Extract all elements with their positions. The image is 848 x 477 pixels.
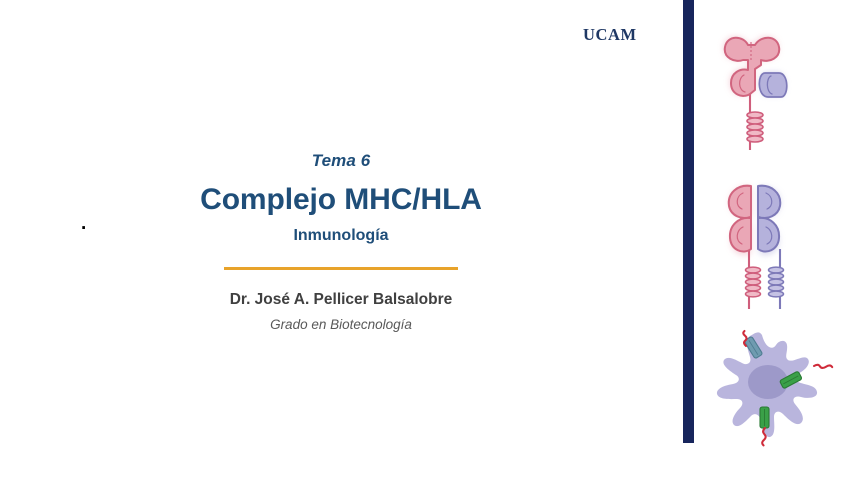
mhc-class-ii-svg [702,175,848,315]
peptide-antigen-green-right [814,365,832,368]
degree-program: Grado en Biotecnología [118,318,564,333]
title-block: Tema 6 Complejo MHC/HLA Inmunología Dr. … [118,152,564,333]
slide-canvas: UCAM . Tema 6 Complejo MHC/HLA Inmunolog… [0,0,848,477]
mhc-class-i-svg [702,28,848,158]
topic-number: Tema 6 [118,152,564,171]
mhc-receptor-green-bottom [760,407,769,428]
b2-microglobulin-domain [759,73,786,97]
mhc1-transmembrane-coil [747,112,763,142]
mhc2-beta-chain [758,186,780,252]
subject-label: Inmunología [118,227,564,245]
dendritic-cell-svg [702,325,848,450]
author-name: Dr. José A. Pellicer Balsalobre [118,291,564,308]
stray-bullet-marker: . [81,214,86,233]
antigen-presenting-cell-icon [702,325,848,450]
mhc2-alpha-chain [729,186,751,252]
mhc-class-ii-icon [702,175,848,315]
mhc-class-i-icon [702,28,848,158]
sidebar-figure-column [702,0,848,477]
mhc2-beta-coil [769,267,784,297]
mhc2-alpha-coil [746,267,761,297]
page-title: Complejo MHC/HLA [118,183,564,216]
title-divider-rule [224,267,458,270]
sidebar-accent-bar [683,0,694,443]
ucam-logo: UCAM [583,27,637,44]
